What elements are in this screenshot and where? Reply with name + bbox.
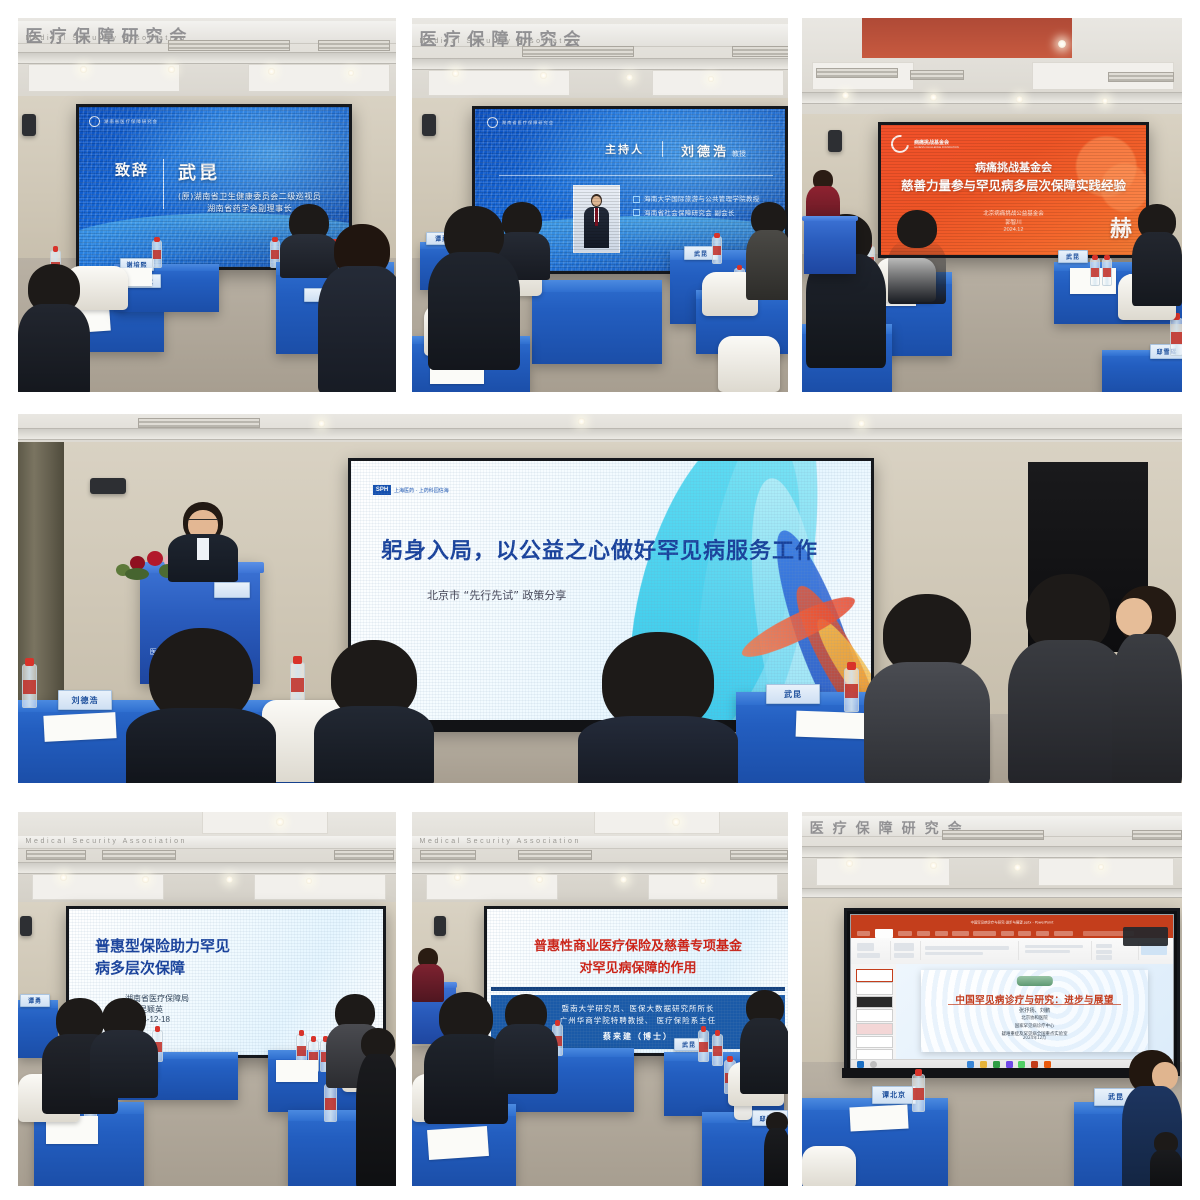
slide-logo-text: 湖南省医疗保障研究会 xyxy=(104,119,158,125)
water-bottle xyxy=(324,1084,337,1122)
water-bottle xyxy=(1090,258,1100,286)
name-card-label: 谭勇 xyxy=(28,996,42,1005)
ceiling-downlight xyxy=(620,876,627,883)
slide-bullet-item: 海南省社会保障研究会 副会长 xyxy=(633,207,760,221)
water-bottle xyxy=(712,1034,723,1066)
ppt-ribbon-button[interactable] xyxy=(1025,950,1070,953)
photo-bottom-center: Medical Security Association 普惠性商业医疗保险及慈… xyxy=(412,812,788,1186)
slide-speaker-title-1: (原)湖南省卫生健康委员会二级巡视员 xyxy=(178,191,321,203)
attendee xyxy=(356,1028,396,1186)
wall-speaker xyxy=(22,114,36,136)
ceiling-strip xyxy=(412,862,788,874)
name-card-label: 武昆 xyxy=(784,689,802,700)
wall-speaker xyxy=(20,916,32,936)
ceiling-downlight xyxy=(1058,40,1066,48)
slide-main-title: 躬身入局，以公益之心做好罕见病服务工作 xyxy=(381,533,818,565)
banner-title-en: Medical Security Association xyxy=(26,35,188,42)
slide-thumbnail[interactable] xyxy=(856,1036,892,1049)
ceiling-panel xyxy=(1038,858,1174,886)
ceiling-panel xyxy=(594,812,720,834)
attendee xyxy=(1132,204,1182,304)
foundation-ring-icon xyxy=(887,131,912,156)
conference-room-scene: 医疗保障研究会 中国罕见病诊疗与研究-进步与展望.pptx - PowerPoi… xyxy=(802,812,1182,1186)
ceiling-panel xyxy=(202,812,328,834)
ppt-notification-popup[interactable] xyxy=(1123,927,1168,945)
attendee xyxy=(1008,574,1128,783)
association-logo-icon xyxy=(487,117,498,128)
ceiling-downlight xyxy=(858,420,865,427)
slide-seal-mark: 赫 xyxy=(1110,211,1132,243)
ppt-tab[interactable] xyxy=(917,931,930,937)
slide-thumbnail[interactable] xyxy=(856,969,892,982)
taskbar-browser-icon[interactable] xyxy=(967,1061,974,1068)
water-bottle xyxy=(698,1030,709,1062)
ceiling-downlight xyxy=(226,876,233,883)
chair xyxy=(802,1146,856,1186)
air-vent xyxy=(138,418,260,428)
speaker-at-podium xyxy=(168,502,238,580)
ppt-tab[interactable] xyxy=(1054,931,1073,937)
slide-logo-text: 湖南省医疗保障研究会 xyxy=(502,120,554,126)
slide-thumbnail[interactable] xyxy=(856,1023,892,1036)
slide-title-line2: 对罕见病保障的作用 xyxy=(487,957,788,976)
ppt-ribbon-button[interactable] xyxy=(894,953,913,958)
ppt-affiliation-2: 国家罕见病诊疗中心 xyxy=(921,1023,1148,1031)
attendee xyxy=(746,202,788,298)
ppt-ribbon-button[interactable] xyxy=(857,953,880,958)
air-vent xyxy=(522,46,634,57)
ceiling-panel xyxy=(28,64,180,92)
air-vent xyxy=(942,830,1044,840)
ppt-ribbon-button[interactable] xyxy=(894,943,913,950)
slide-logo: 湖南省医疗保障研究会 xyxy=(89,116,158,127)
ceiling-strip xyxy=(802,92,1182,104)
slide-host-suffix: 教授 xyxy=(732,149,746,159)
name-card-label: 武昆 xyxy=(694,249,708,258)
slide-logo: 湖南省医疗保障研究会 xyxy=(487,117,554,128)
ppt-tab[interactable] xyxy=(1001,931,1014,937)
ceiling-panel xyxy=(428,70,570,96)
photo-top-right: 病痛挑战基金会 ILLNESS CHALLENGE FOUNDATION 病痛挑… xyxy=(802,18,1182,392)
taskbar-app-icon[interactable] xyxy=(1018,1061,1025,1068)
ppt-tab[interactable] xyxy=(857,931,870,937)
ppt-ribbon-button[interactable] xyxy=(1025,945,1083,948)
attendee xyxy=(740,990,788,1092)
conference-room-scene: 病痛挑战基金会 ILLNESS CHALLENGE FOUNDATION 病痛挑… xyxy=(802,18,1182,392)
slide-title-line1: 普惠型保险助力罕见 xyxy=(95,935,230,956)
wall-banner: Medical Security Association xyxy=(412,836,788,849)
air-vent xyxy=(816,68,898,78)
ceiling-downlight xyxy=(536,876,543,883)
ceiling-downlight xyxy=(276,818,284,826)
banner-title-en: Medical Security Association xyxy=(420,838,582,845)
water-bottle xyxy=(912,1074,925,1112)
taskbar-app-icon[interactable] xyxy=(1044,1061,1051,1068)
ceiling-downlight xyxy=(708,76,714,82)
air-vent xyxy=(102,850,176,860)
ppt-affiliation-1: 北京协和医院 xyxy=(921,1015,1148,1023)
title-divider xyxy=(163,159,164,209)
ceiling-downlight xyxy=(60,874,67,881)
ppt-title-rule xyxy=(948,1004,1121,1005)
taskbar-folder-icon[interactable] xyxy=(980,1061,987,1068)
ceiling-downlight xyxy=(846,860,853,867)
slide-bullet-list: 海南大学国际旅游与公共管理学院教授 海南省社会保障研究会 副会长 xyxy=(633,193,760,220)
slide-role: 致辞 xyxy=(115,159,149,180)
water-bottle xyxy=(1102,258,1112,286)
podium xyxy=(804,216,856,274)
name-card-label: 武昆 xyxy=(682,1040,696,1049)
ceiling-downlight xyxy=(930,862,937,869)
title-divider xyxy=(662,141,663,157)
photo-bottom-right: 医疗保障研究会 中国罕见病诊疗与研究-进步与展望.pptx - PowerPoi… xyxy=(802,812,1182,1186)
air-vent xyxy=(420,850,476,860)
taskbar-search-icon[interactable] xyxy=(870,1061,877,1068)
chair xyxy=(718,336,780,392)
ppt-ribbon-button[interactable] xyxy=(1096,944,1112,948)
foundation-logo: 病痛挑战基金会 ILLNESS CHALLENGE FOUNDATION xyxy=(891,135,959,153)
ceiling-strip xyxy=(18,428,1182,440)
ceiling-downlight xyxy=(672,818,680,826)
attendee xyxy=(90,998,158,1094)
attendee xyxy=(18,264,90,392)
bullet-square-icon xyxy=(633,209,640,216)
name-card xyxy=(214,582,250,598)
slide-host-name: 刘德浩 xyxy=(681,141,729,160)
ppt-slide-stage[interactable]: 中国罕见病诊疗与研究：进步与展望 张抒扬、刘鹏 北京协和医院 国家罕见病诊疗中心… xyxy=(896,964,1173,1060)
attendee-face xyxy=(1116,598,1152,636)
slide-title-line1: 普惠性商业医疗保险及慈善专项基金 xyxy=(487,935,788,954)
conference-room-scene: SPH 上海医药 · 上药科园信海 躬身入局，以公益之心做好罕见病服务工作 北京… xyxy=(18,414,1182,783)
ppt-ribbon-button[interactable] xyxy=(857,943,873,950)
name-card: 武昆 xyxy=(766,684,820,704)
attendee xyxy=(764,1112,788,1186)
slide-thumbnail[interactable] xyxy=(856,982,892,995)
taskbar-start-icon[interactable] xyxy=(857,1061,864,1068)
slide-title-line2: 病多层次保障 xyxy=(95,957,185,978)
ceiling-strip xyxy=(18,862,396,874)
air-vent xyxy=(168,40,290,51)
water-bottle xyxy=(712,236,722,264)
ppt-tab[interactable] xyxy=(973,931,996,937)
ceiling-downlight xyxy=(454,874,461,881)
banner-title-en: Medical Security Association xyxy=(420,38,582,45)
name-card: 谭北京 xyxy=(872,1086,916,1104)
speaker-glasses xyxy=(188,519,218,525)
air-vent xyxy=(318,40,390,51)
taskbar-powerpoint-icon[interactable] xyxy=(1031,1061,1038,1068)
sph-badge-icon: SPH xyxy=(373,485,391,495)
foundation-name-cn: 病痛挑战基金会 xyxy=(914,139,959,146)
attendee xyxy=(126,628,276,783)
ppt-date: 2024年12月 xyxy=(921,1035,1148,1041)
air-vent xyxy=(26,850,86,860)
ceiling-strip xyxy=(802,846,1182,858)
ppt-tab[interactable] xyxy=(935,931,948,937)
document-paper xyxy=(276,1060,318,1082)
ceiling-downlight xyxy=(80,66,87,73)
slide-speaker-name: 武昆 xyxy=(178,159,321,185)
ppt-window-title: 中国罕见病诊疗与研究-进步与展望.pptx - PowerPoint xyxy=(971,919,1054,924)
conference-room-scene: Medical Security Association 普惠型保险助力罕见 病… xyxy=(18,812,396,1186)
slide-title-block: 主持人 刘德浩 教授 xyxy=(605,141,746,160)
air-vent xyxy=(334,850,394,860)
conference-room-scene: Medical Security Association 普惠性商业医疗保险及慈… xyxy=(412,812,788,1186)
attendee xyxy=(888,210,946,300)
name-card: 刘德浩 xyxy=(58,690,112,710)
slide-thumbnail[interactable] xyxy=(856,1009,892,1022)
wall-banner: 医疗保障研究会 Medical Security Association xyxy=(412,24,788,47)
document-paper xyxy=(796,711,873,740)
photo-center-wide: SPH 上海医药 · 上药科园信海 躬身入局，以公益之心做好罕见病服务工作 北京… xyxy=(18,414,1182,783)
document-paper xyxy=(43,712,116,742)
wall-speaker xyxy=(828,130,842,152)
slide-brand-logo: SPH 上海医药 · 上药科园信海 xyxy=(373,485,449,495)
wall-speaker xyxy=(90,478,126,494)
ceiling-downlight xyxy=(1098,864,1104,870)
air-vent xyxy=(1108,72,1174,82)
ceiling-panel xyxy=(648,874,778,900)
ceiling-downlight xyxy=(1014,864,1021,871)
ppt-slide-thumbnail-panel[interactable] xyxy=(851,964,897,1060)
photo-top-center: 医疗保障研究会 Medical Security Association 湖南省… xyxy=(412,18,788,392)
wall-speaker xyxy=(434,916,446,936)
water-bottle xyxy=(152,240,162,268)
ppt-ribbon-button[interactable] xyxy=(925,952,983,956)
document-paper xyxy=(427,1126,489,1160)
attendee xyxy=(494,994,558,1090)
name-card-label: 谭北京 xyxy=(882,1090,906,1100)
air-vent xyxy=(910,70,964,80)
wall-banner: Medical Security Association xyxy=(18,836,396,849)
ppt-authors: 张抒扬、刘鹏 xyxy=(921,1007,1148,1014)
slide-title-line2: 慈善力量参与罕见病多层次保障实践经验 xyxy=(881,175,1146,194)
ceiling-panel xyxy=(652,70,784,96)
attendee xyxy=(864,594,990,783)
ceiling-downlight xyxy=(842,92,849,99)
ceiling-downlight xyxy=(348,70,354,76)
ppt-current-slide[interactable]: 中国罕见病诊疗与研究：进步与展望 张抒扬、刘鹏 北京协和医院 国家罕见病诊疗中心… xyxy=(921,970,1148,1052)
ppt-ribbon-button[interactable] xyxy=(1096,950,1112,954)
water-bottle xyxy=(22,664,37,708)
slide-divider-line xyxy=(499,175,773,176)
host-portrait xyxy=(573,185,620,253)
ceiling-strip xyxy=(802,888,1182,898)
association-logo-icon xyxy=(89,116,100,127)
attendee xyxy=(1112,586,1182,783)
ceiling-downlight xyxy=(318,420,325,427)
wall-speaker xyxy=(422,114,436,136)
ceiling-downlight xyxy=(452,70,459,77)
ppt-ribbon-button[interactable] xyxy=(1096,955,1112,959)
slide-thumbnail[interactable] xyxy=(856,996,892,1009)
ppt-ribbon-button[interactable] xyxy=(925,946,1009,950)
ceiling-downlight xyxy=(268,68,275,75)
banner-title-en: Medical Security Association xyxy=(26,838,188,845)
ceiling-downlight xyxy=(626,74,633,81)
air-vent xyxy=(518,850,592,860)
photo-bottom-left: Medical Security Association 普惠型保险助力罕见 病… xyxy=(18,812,396,1186)
ceiling-downlight xyxy=(142,876,149,883)
conference-room-scene: 医疗保障研究会 Medical Security Association xyxy=(18,18,396,392)
powerpoint-window[interactable]: 中国罕见病诊疗与研究-进步与展望.pptx - PowerPoint xyxy=(850,914,1174,1070)
ppt-ribbon-group[interactable] xyxy=(922,941,1020,960)
ppt-tab[interactable] xyxy=(1036,931,1049,937)
attendee xyxy=(318,224,396,392)
foundation-name-en: ILLNESS CHALLENGE FOUNDATION xyxy=(914,146,959,149)
ceiling-downlight xyxy=(930,94,937,101)
conference-room-scene: 医疗保障研究会 Medical Security Association 湖南省… xyxy=(412,18,788,392)
air-vent xyxy=(730,850,788,860)
ceiling-downlight xyxy=(1102,98,1108,104)
ceiling-strip xyxy=(412,58,788,70)
ppt-tab[interactable] xyxy=(898,931,912,937)
audience-table xyxy=(532,280,662,364)
slide-art-ribbon xyxy=(736,588,860,666)
ceiling-downlight xyxy=(578,418,585,425)
document-paper xyxy=(849,1104,908,1131)
attendee xyxy=(1150,1132,1182,1186)
ceiling-strip xyxy=(18,52,396,64)
slide-role: 主持人 xyxy=(605,141,644,157)
air-vent xyxy=(1132,830,1182,840)
attendee xyxy=(314,640,434,783)
ceiling-downlight xyxy=(1016,96,1023,103)
name-card: 武昆 xyxy=(1058,250,1088,263)
taskbar-app-icon[interactable] xyxy=(993,1061,1000,1068)
taskbar-app-icon[interactable] xyxy=(1006,1061,1013,1068)
name-card-label: 武昆 xyxy=(1066,252,1080,261)
water-bottle xyxy=(844,668,859,712)
slide-subtitle: 北京市 “先行先试” 政策分享 xyxy=(427,587,566,603)
ceiling-panel xyxy=(254,874,386,900)
ppt-tab[interactable] xyxy=(952,931,968,937)
attendee xyxy=(578,632,738,783)
ceiling-red-accent xyxy=(862,18,1072,58)
ceiling-downlight xyxy=(540,72,547,79)
air-vent xyxy=(732,46,788,57)
ceiling-downlight xyxy=(306,878,312,884)
name-card-label: 刘德浩 xyxy=(72,695,99,706)
slide-brand-text: 上海医药 · 上药科园信海 xyxy=(394,487,449,494)
water-bottle xyxy=(1170,318,1182,356)
slide-title-line1: 病痛挑战基金会 xyxy=(881,159,1146,175)
slide-bullet-item: 海南大学国际旅游与公共管理学院教授 xyxy=(633,193,760,207)
ppt-tab[interactable] xyxy=(1018,931,1031,937)
ceiling-downlight xyxy=(168,66,175,73)
photo-top-left: 医疗保障研究会 Medical Security Association xyxy=(18,18,396,392)
hospital-emblem-icon xyxy=(1016,976,1052,987)
ceiling-downlight xyxy=(700,878,706,884)
speaker-shirt xyxy=(197,538,209,560)
ppt-tab-active[interactable] xyxy=(875,929,893,937)
attendee xyxy=(428,206,520,366)
photo-collage: 医疗保障研究会 Medical Security Association xyxy=(0,0,1200,1200)
bullet-square-icon xyxy=(633,196,640,203)
